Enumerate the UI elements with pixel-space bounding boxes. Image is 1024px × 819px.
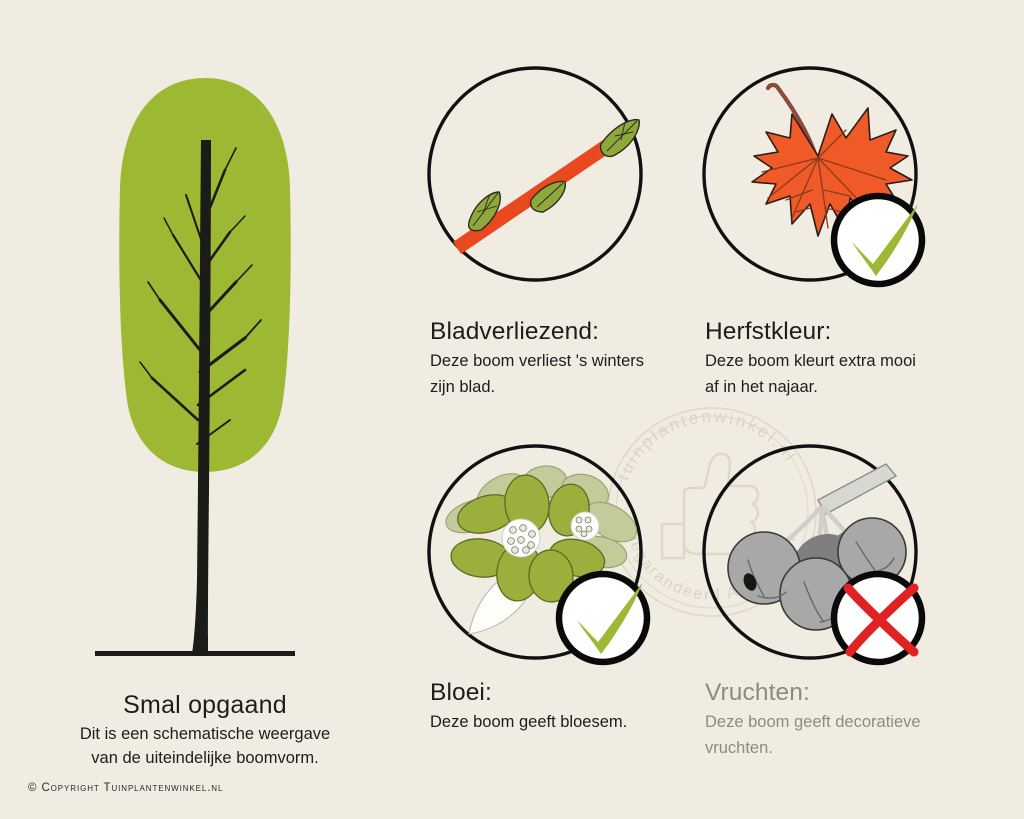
feature-desc-line-1: Deze boom kleurt extra mooi — [705, 352, 916, 370]
feature-text-bloei: Bloei: Deze boom geeft bloesem. — [430, 678, 722, 735]
feature-desc-line-2: af in het najaar. — [705, 378, 818, 396]
feature-bladverliezend: Bladverliezend: Deze boom verliest 's wi… — [425, 52, 715, 300]
icon-vruchten-wrap — [700, 430, 922, 678]
cross-badge — [834, 574, 922, 662]
feature-desc-line-2: zijn blad. — [430, 378, 495, 396]
feature-bloei: Bloei: Deze boom geeft bloesem. — [425, 430, 715, 678]
copyright-notice: © Copyright Tuinplantenwinkel.nl — [28, 782, 223, 794]
icon-bladverliezend-wrap — [425, 52, 647, 300]
tree-caption: Smal opgaand Dit is een schematische wee… — [0, 690, 410, 770]
feature-desc-line-1: Deze boom geeft bloesem. — [430, 713, 627, 731]
feature-title-vruchten: Vruchten: — [705, 678, 997, 708]
feature-desc-line-2: vruchten. — [705, 739, 773, 757]
feature-herfstkleur: Herfstkleur: Deze boom kleurt extra mooi… — [700, 52, 990, 300]
infographic-canvas: tuinplantenwinkel.nl gegarandeerd A-kwal… — [0, 0, 1024, 819]
tree-description-line-2: van de uiteindelijke boomvorm. — [91, 749, 318, 767]
tree-illustration — [40, 20, 370, 670]
tree-shape-title: Smal opgaand — [0, 690, 410, 720]
twig-with-leaf-buds-icon — [453, 120, 639, 254]
feature-description-vruchten: Deze boom geeft decoratieve vruchten. — [705, 709, 973, 761]
feature-desc-line-1: Deze boom verliest 's winters — [430, 352, 644, 370]
feature-text-vruchten: Vruchten: Deze boom geeft decoratieve vr… — [705, 678, 997, 761]
feature-text-herfstkleur: Herfstkleur: Deze boom kleurt extra mooi… — [705, 317, 997, 400]
feature-desc-line-1: Deze boom geeft decoratieve — [705, 713, 921, 731]
feature-description-bloei: Deze boom geeft bloesem. — [430, 709, 698, 735]
check-badge — [559, 574, 647, 662]
feature-text-bladverliezend: Bladverliezend: Deze boom verliest 's wi… — [430, 317, 722, 400]
feature-title-bladverliezend: Bladverliezend: — [430, 317, 722, 347]
ground-line — [95, 651, 295, 656]
feature-title-bloei: Bloei: — [430, 678, 722, 708]
tree-shape-description: Dit is een schematische weergave van de … — [0, 722, 410, 770]
feature-description-herfstkleur: Deze boom kleurt extra mooi af in het na… — [705, 348, 973, 400]
feature-vruchten: Vruchten: Deze boom geeft decoratieve vr… — [700, 430, 990, 678]
icon-bloei-wrap — [425, 430, 647, 678]
feature-title-herfstkleur: Herfstkleur: — [705, 317, 997, 347]
feature-description-bladverliezend: Deze boom verliest 's winters zijn blad. — [430, 348, 698, 400]
check-badge — [834, 196, 922, 284]
icon-herfstkleur-wrap — [700, 52, 922, 300]
tree-shape-panel: Smal opgaand Dit is een schematische wee… — [0, 0, 410, 819]
tree-description-line-1: Dit is een schematische weergave — [80, 725, 330, 743]
